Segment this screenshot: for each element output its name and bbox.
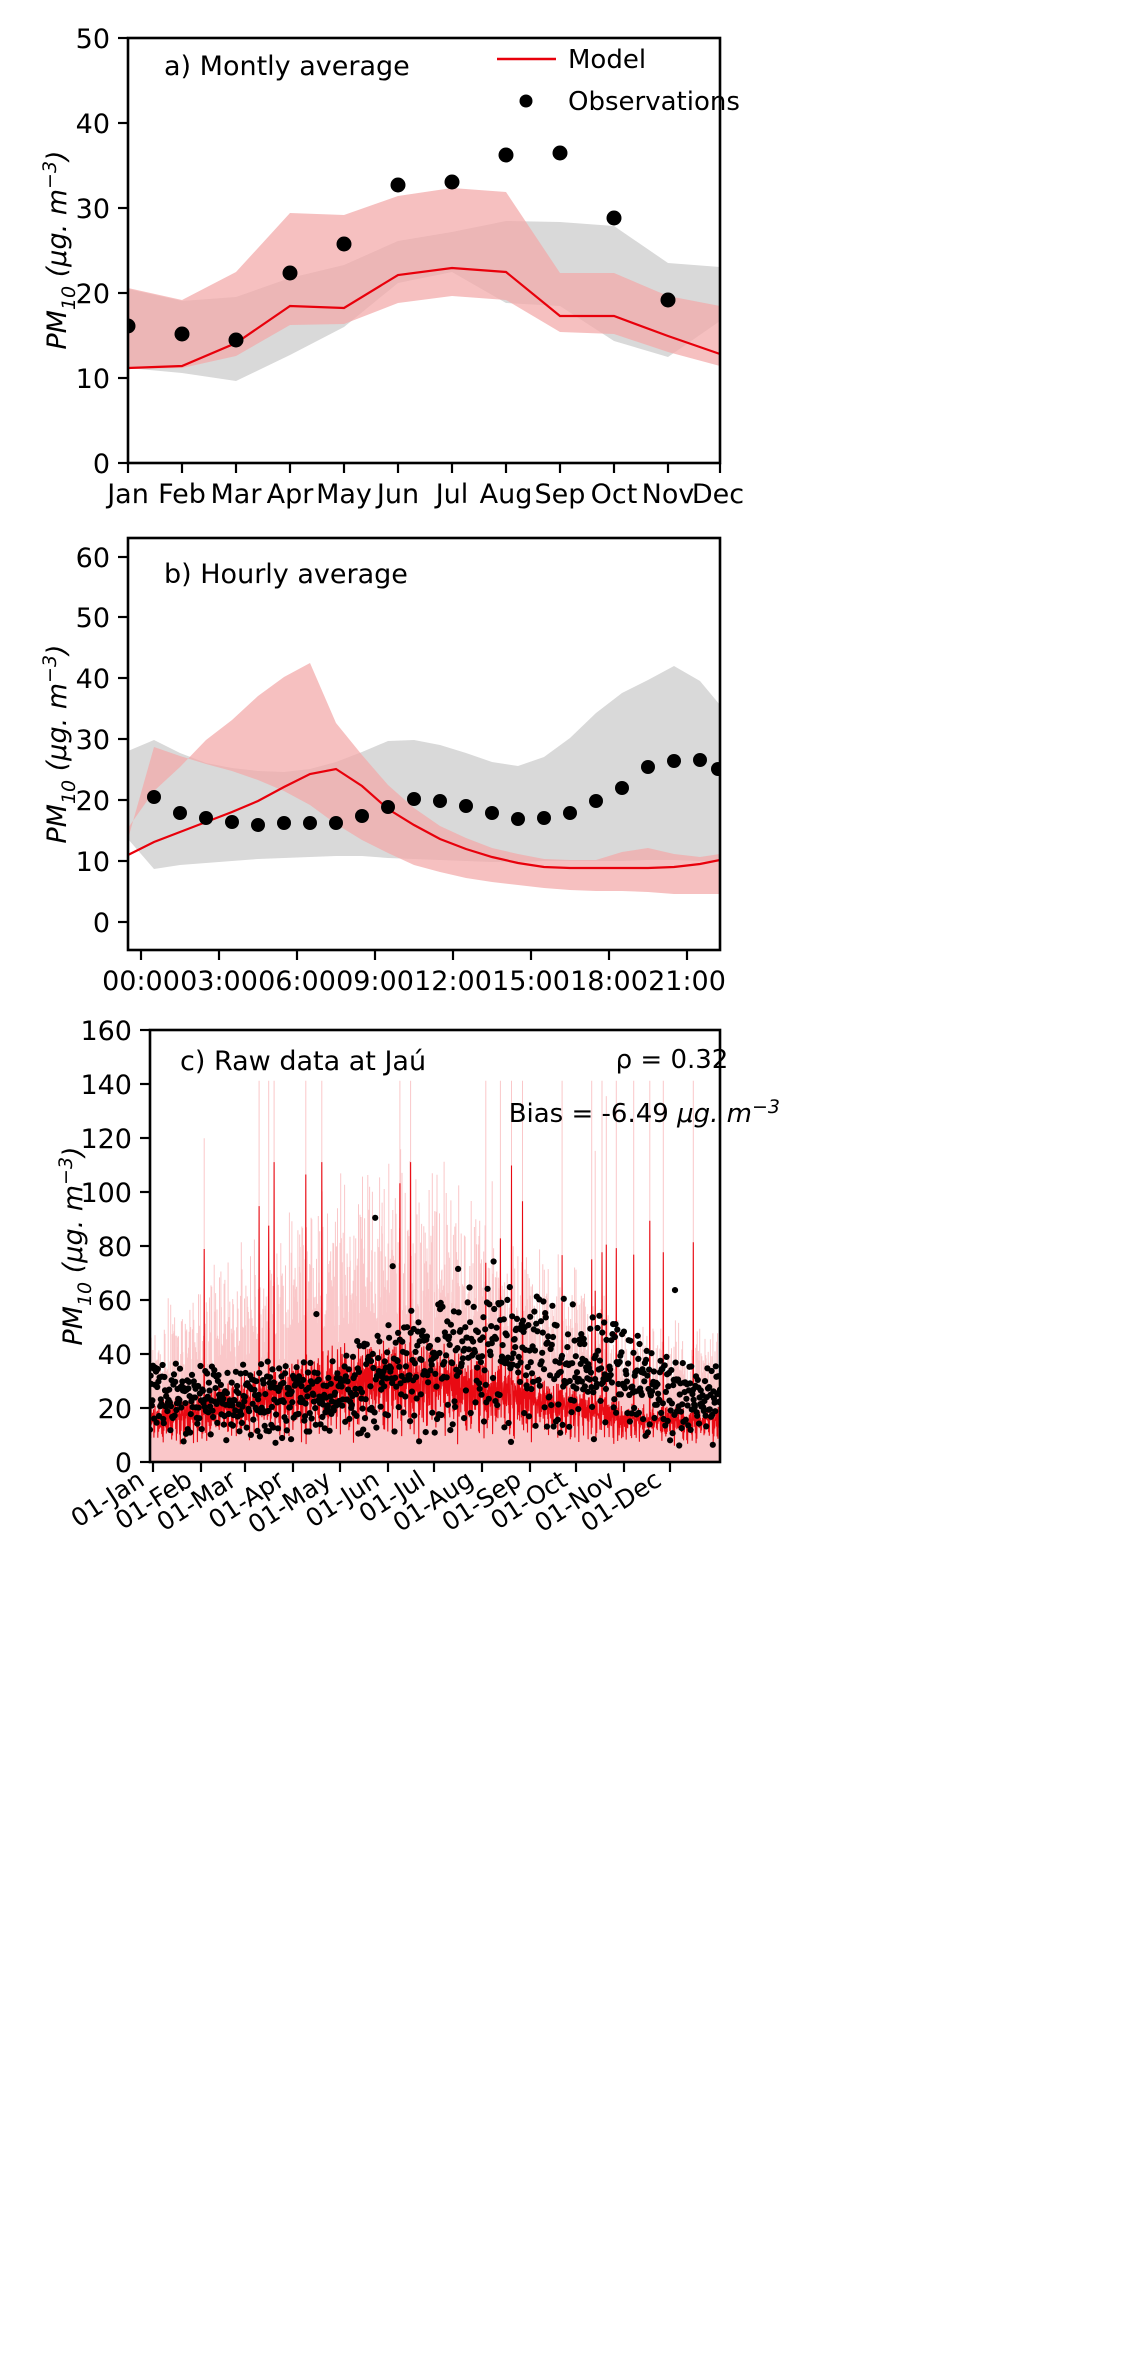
y-tick-b-10: 10 [76, 847, 110, 878]
panel-monthly-average: Model Observations a) Montly average 50 … [0, 0, 1122, 510]
y-tick-a-30: 30 [76, 194, 110, 225]
y-tick-c-140: 140 [80, 1070, 132, 1101]
y-tick-b-50: 50 [76, 603, 110, 634]
y-ticks-a: 50 40 30 20 10 0 [76, 24, 128, 480]
ylabel-c-sub: 10 [74, 1282, 96, 1306]
ylabel-b-exp: −3 [39, 655, 61, 683]
y-tick-b-30: 30 [76, 725, 110, 756]
ylabel-c-unit: (μg. m [58, 1185, 89, 1282]
x-tick-b-2100: 21:00 [648, 966, 726, 997]
y-ticks-c: 160 140 120 100 80 60 40 20 0 [80, 1016, 150, 1479]
x-tick-a-sep: Sep [535, 479, 586, 510]
raw-series-c [147, 1081, 723, 1462]
x-ticks-c: 01-Jan 01-Feb 01-Mar 01-Apr 01-May 01-Ju… [66, 1462, 670, 1539]
x-tick-b-0900: 09:00 [336, 966, 414, 997]
x-tick-a-jun: Jun [375, 479, 419, 510]
ylabel-a-exp: −3 [39, 161, 61, 189]
y-tick-c-60: 60 [98, 1286, 132, 1317]
ylabel-c-close: ) [58, 1146, 89, 1159]
x-ticks-a: Jan Feb Mar Apr May Jun Jul Aug Sep Oct … [105, 463, 744, 510]
x-tick-b-1800: 18:00 [570, 966, 648, 997]
ylabel-b-sub: 10 [58, 780, 80, 804]
x-tick-a-aug: Aug [480, 479, 533, 510]
ylabel-c-exp: −3 [55, 1157, 77, 1185]
legend-obs-swatch [520, 95, 533, 108]
y-axis-label-b: PM10 (μg. m−3) [39, 644, 80, 843]
y-tick-c-80: 80 [98, 1232, 132, 1263]
rho-annotation: ρ = 0.32 [616, 1045, 729, 1075]
x-tick-a-mar: Mar [211, 479, 263, 510]
y-tick-c-160: 160 [80, 1016, 132, 1047]
y-tick-b-60: 60 [76, 543, 110, 574]
y-tick-b-0: 0 [93, 908, 110, 939]
x-tick-a-jan: Jan [105, 479, 149, 510]
panel-title-c: c) Raw data at Jaú [180, 1046, 426, 1077]
y-tick-c-20: 20 [98, 1394, 132, 1425]
svg-text:PM10 (μg. m−3): PM10 (μg. m−3) [55, 1146, 96, 1345]
y-tick-a-50: 50 [76, 24, 110, 55]
ylabel-a-close: ) [42, 150, 73, 163]
y-tick-a-40: 40 [76, 109, 110, 140]
x-tick-a-jul: Jul [434, 479, 469, 510]
x-tick-b-1200: 12:00 [414, 966, 492, 997]
svg-text:PM10 (μg. m−3): PM10 (μg. m−3) [39, 644, 80, 843]
ylabel-c-pm: PM [58, 1306, 89, 1346]
panel-raw-data: c) Raw data at Jaú ρ = 0.32 Bias = -6.49… [0, 1012, 1122, 2362]
x-tick-a-oct: Oct [591, 479, 638, 510]
x-tick-a-dec: Dec [692, 479, 744, 510]
svg-text:PM10 (μg. m−3): PM10 (μg. m−3) [39, 150, 80, 349]
x-tick-a-nov: Nov [642, 479, 695, 510]
x-ticks-b: 00:00 03:00 06:00 09:00 12:00 15:00 18:0… [102, 950, 726, 997]
y-axis-label-c: PM10 (μg. m−3) [55, 1146, 96, 1345]
x-tick-a-apr: Apr [267, 479, 315, 510]
y-tick-a-10: 10 [76, 364, 110, 395]
x-tick-a-feb: Feb [158, 479, 206, 510]
x-tick-b-1500: 15:00 [492, 966, 570, 997]
bias-annotation: Bias = -6.49 μg. m−3 [509, 1096, 780, 1129]
y-ticks-b: 60 50 40 30 20 10 0 [76, 543, 128, 939]
legend-a: Model Observations [497, 45, 740, 117]
x-tick-b-0000: 00:00 [102, 966, 180, 997]
y-tick-c-40: 40 [98, 1340, 132, 1371]
bias-pre: Bias = -6.49 [509, 1099, 677, 1129]
x-tick-b-0600: 06:00 [258, 966, 336, 997]
panel-title-a: a) Montly average [164, 51, 410, 82]
ylabel-b-close: ) [42, 644, 73, 657]
y-tick-b-20: 20 [76, 786, 110, 817]
bias-unit: μg. m [676, 1099, 752, 1129]
ylabel-a-sub: 10 [58, 286, 80, 310]
panel-title-b: b) Hourly average [164, 559, 408, 590]
panel-hourly-average: b) Hourly average 60 50 40 30 20 10 0 00… [0, 516, 1122, 1006]
legend-observations-label: Observations [568, 87, 740, 117]
ylabel-a-pm: PM [42, 310, 73, 350]
ylabel-a-unit: (μg. m [42, 189, 73, 286]
ylabel-b-pm: PM [42, 804, 73, 844]
legend-model-label: Model [568, 45, 646, 75]
x-tick-a-may: May [316, 479, 372, 510]
y-tick-a-0: 0 [93, 449, 110, 480]
y-axis-label-a: PM10 (μg. m−3) [39, 150, 80, 349]
bias-exp: −3 [752, 1096, 780, 1118]
x-tick-b-0300: 03:00 [180, 966, 258, 997]
y-tick-a-20: 20 [76, 279, 110, 310]
ylabel-b-unit: (μg. m [42, 683, 73, 780]
y-tick-b-40: 40 [76, 664, 110, 695]
pm10-figure: Model Observations a) Montly average 50 … [0, 0, 1122, 2362]
